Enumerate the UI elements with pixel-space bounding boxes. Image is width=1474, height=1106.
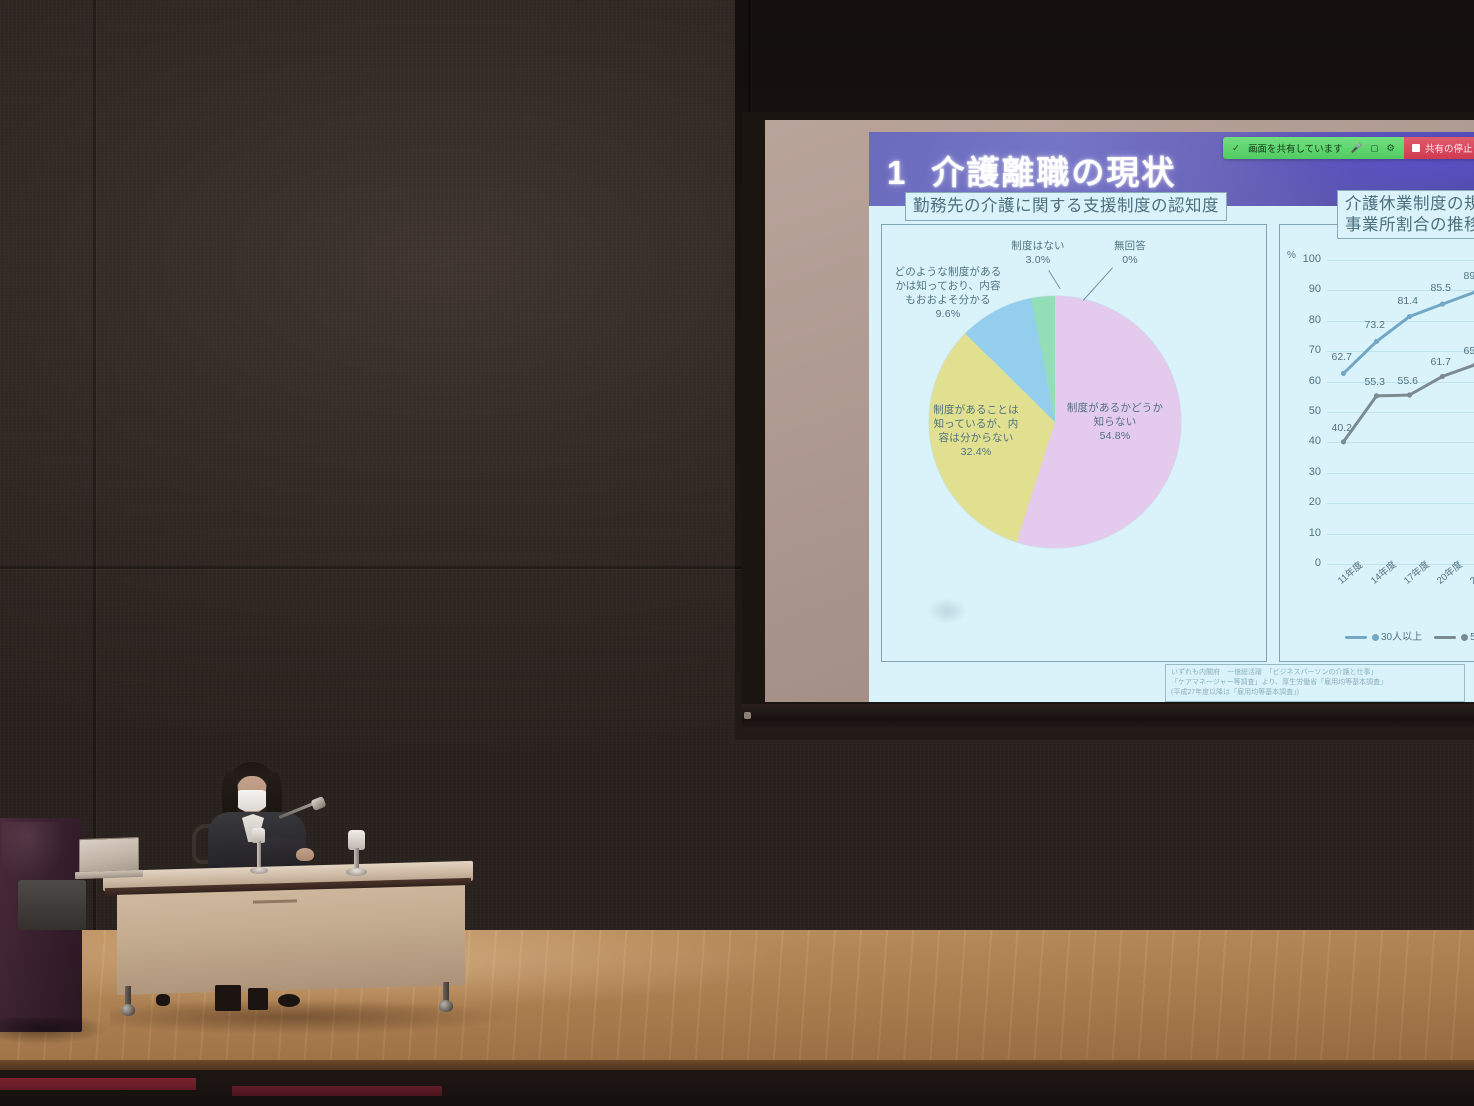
data-point [1341,371,1346,376]
data-label: 65.6 [1464,345,1474,357]
mic-head-right [348,830,365,850]
data-point [1440,301,1445,306]
wall-seam-horizontal [0,566,760,569]
footnote-line-3: (平成27年度以降は「雇用均等基本調査」) [1171,688,1459,698]
legend-label-a: 30人以上 [1381,632,1422,643]
data-label: 89.5 [1464,270,1474,282]
pie-label-knows-detail: どのような制度がある かは知っており、内容 もおおよそ分かる 9.6% [887,266,1009,321]
data-point [1341,439,1346,444]
mic-base [250,867,268,874]
legend-item-a: 30人以上 [1345,628,1422,643]
screen-frame-marker [744,712,751,719]
stop-share-button[interactable]: 共有の停止 [1404,137,1474,159]
presenter-hand [296,848,314,861]
data-label: 55.6 [1398,375,1418,387]
laptop[interactable] [75,838,143,878]
mic-stem [257,841,261,869]
under-desk-object-2 [248,988,268,1010]
stage-edge [0,1060,1474,1070]
podium-highlight [2,822,66,882]
data-label: 61.7 [1431,356,1451,368]
under-desk-object-1 [215,985,241,1011]
legend-swatch-a [1345,636,1367,639]
video-icon[interactable]: ◻ [1371,143,1379,154]
check-icon: ✓ [1232,143,1240,154]
pie-leader-line-2 [1048,270,1061,289]
footnote-line-1: いずれも内閣府 一億総活躍 「ビジネスパーソンの介護と仕事」 [1171,668,1459,678]
table-microphone-right [345,830,369,876]
projection-screen: 1介護離職の現状 ✓ 画面を共有しています 🎤 ◻ ⚙ 共有の停止 [742,112,1474,722]
data-label: 62.7 [1332,351,1352,363]
legend-label-b: 5人以上 [1470,632,1474,643]
share-status: ✓ 画面を共有しています 🎤 ◻ ⚙ [1223,137,1404,159]
screen-surface: 1介護離職の現状 ✓ 画面を共有しています 🎤 ◻ ⚙ 共有の停止 [765,120,1474,702]
under-desk-object-3 [278,994,300,1007]
gear-icon[interactable]: ⚙ [1386,143,1395,154]
pie-label-no-system: 制度はない 3.0% [993,240,1083,268]
pie-label-unknown: 制度があるかどうか 知らない 54.8% [1059,402,1171,444]
podium-shelf [18,880,86,930]
slide-body: 勤務先の介護に関する支援制度の認知度 制度はない 3.0% 無回答 0% どのよ… [869,206,1474,702]
side-podium [0,818,82,1032]
laptop-keyboard-base [75,870,143,879]
footnote-line-2: 「ケアマネージャー等調査」より、厚生労働省「雇用均等基本調査」 [1171,678,1459,688]
projection-smudge [927,598,967,624]
slide-footnote: いずれも内閣府 一億総活躍 「ビジネスパーソンの介護と仕事」 「ケアマネージャー… [1165,664,1465,702]
mic-base-right [346,868,367,876]
laptop-screen [79,837,139,873]
pie-leader-line [1083,267,1113,300]
data-point [1407,392,1412,397]
microphone-icon[interactable]: 🎤 [1351,143,1363,154]
podium-shadow [0,1018,106,1044]
face-mask [234,790,269,811]
boom-microphone [279,798,325,840]
line-title-1: 介護休業制度の規定がある [1345,195,1474,213]
data-point [1407,314,1412,319]
slide-number: 1 [887,154,907,191]
audience-seat-row-right [232,1086,442,1096]
under-desk-object-4 [156,994,170,1006]
presentation-slide: 1介護離職の現状 ✓ 画面を共有しています 🎤 ◻ ⚙ 共有の停止 [869,132,1474,702]
chart-legend: 30人以上 5人以上 [1345,628,1474,643]
pie-label-no-answer: 無回答 0% [1099,240,1161,268]
lecture-hall-scene: 1介護離職の現状 ✓ 画面を共有しています 🎤 ◻ ⚙ 共有の停止 [0,0,1474,1106]
legend-marker-b [1461,634,1468,641]
desk-caster-right [439,1000,453,1012]
desk-caster-left [121,1004,135,1016]
data-point [1374,393,1379,398]
data-label: 85.5 [1431,282,1451,294]
mic-stem-right [354,848,359,870]
table-microphone-center [248,828,270,876]
legend-swatch-b [1434,636,1456,639]
line-chart-area: % 0102030405060708090100 62.773.281.485.… [1279,224,1474,662]
legend-marker-a [1372,634,1379,641]
audience-seat-row-left [0,1078,196,1090]
stop-icon [1412,144,1420,152]
zoom-share-banner[interactable]: ✓ 画面を共有しています 🎤 ◻ ⚙ 共有の停止 [1223,137,1474,159]
slide-title-text: 介護離職の現状 [931,154,1176,191]
screen-bottom-bar [742,704,1474,730]
boom-mic-head [310,796,326,811]
stop-share-label: 共有の停止 [1425,141,1473,155]
data-label: 55.3 [1365,376,1385,388]
wall-seam-vertical-left [93,0,96,950]
data-point [1440,374,1445,379]
stage-front-face [0,1070,1474,1106]
share-status-label: 画面を共有しています [1248,141,1343,155]
data-label: 73.2 [1365,319,1385,331]
pie-chart-area: 制度はない 3.0% 無回答 0% どのような制度がある かは知っており、内容 … [881,224,1267,662]
data-label: 40.2 [1332,422,1352,434]
data-label: 81.4 [1398,295,1418,307]
data-point [1374,339,1379,344]
legend-item-b: 5人以上 [1434,628,1474,643]
pie-chart-title: 勤務先の介護に関する支援制度の認知度 [905,192,1227,221]
slide-title: 1介護離職の現状 [887,146,1176,194]
pie-label-knows-exists: 制度があることは 知っているが、内 容は分からない 32.4% [921,404,1031,459]
